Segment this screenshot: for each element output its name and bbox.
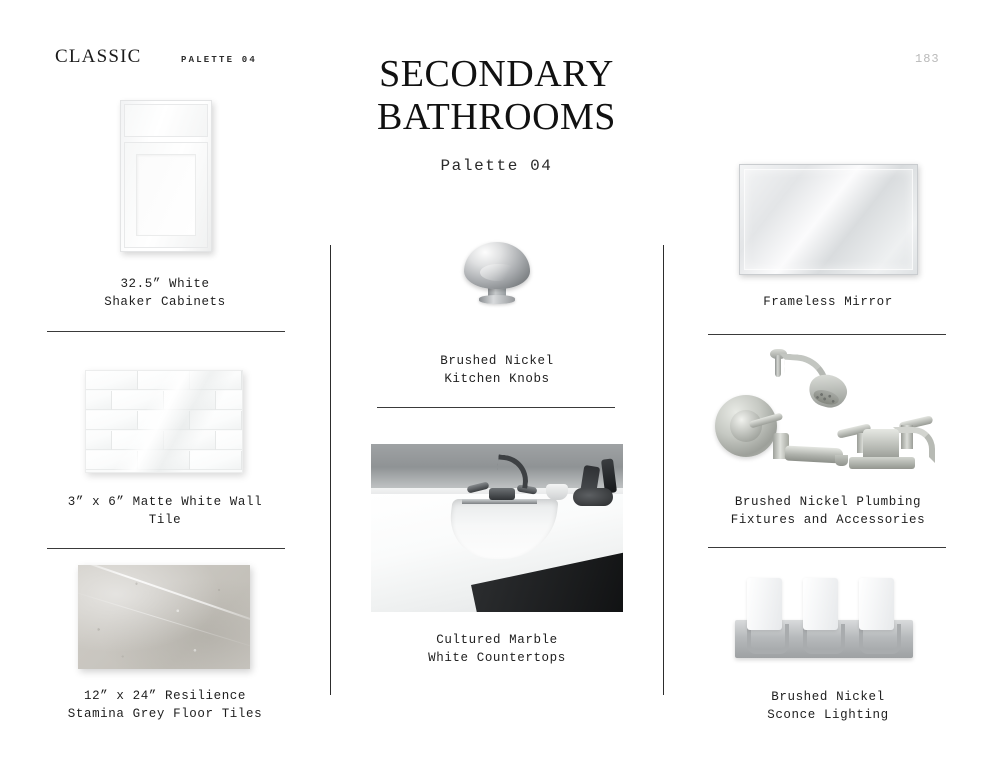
tile-row <box>85 451 243 471</box>
caption-sconce-lighting: Brushed Nickel Sconce Lighting <box>708 688 948 724</box>
caption-shaker-cabinets: 32.5” White Shaker Cabinets <box>45 275 285 311</box>
sconce-glass-shade <box>747 578 782 630</box>
sconce-glass-shade <box>859 578 894 630</box>
page-number: 183 <box>915 52 940 66</box>
tile-row <box>85 411 243 431</box>
grey-stone-floor-tile-image <box>78 565 250 669</box>
left-divider-2 <box>47 548 285 549</box>
sconce-glass-shade <box>803 578 838 630</box>
caption-plumbing-fixtures: Brushed Nickel Plumbing Fixtures and Acc… <box>708 493 948 529</box>
column-divider-right <box>663 245 664 695</box>
cultured-marble-countertop-image <box>371 444 623 612</box>
brushed-nickel-cabinet-knob-image <box>464 242 530 306</box>
shower-spray-face <box>812 387 841 407</box>
matte-white-subway-wall-tile-image <box>85 370 243 473</box>
photo-cup <box>546 484 568 500</box>
brand-label: CLASSIC <box>55 46 142 68</box>
caption-frameless-mirror: Frameless Mirror <box>708 293 948 311</box>
faucet-baseplate <box>849 457 915 469</box>
palette-page: CLASSIC PALETTE 04 183 SECONDARY BATHROO… <box>0 0 993 768</box>
brushed-nickel-sconce-light-image <box>735 578 917 670</box>
brushed-nickel-plumbing-fixtures-image <box>715 345 945 475</box>
cabinet-drawer-panel <box>124 104 208 137</box>
left-divider-1 <box>47 331 285 332</box>
column-divider-left <box>330 245 331 695</box>
header-palette-label: PALETTE 04 <box>181 55 257 65</box>
page-subtitle: Palette 04 <box>330 157 663 175</box>
caption-wall-tile: 3” x 6” Matte White Wall Tile <box>45 493 285 529</box>
right-divider-2 <box>708 547 946 548</box>
cabinet-recessed-panel <box>136 154 196 236</box>
photo-towel <box>573 488 613 506</box>
photo-faucet-body <box>489 488 515 500</box>
knob-cap <box>464 242 530 289</box>
frameless-mirror-image <box>739 164 918 275</box>
center-divider-1 <box>377 407 615 408</box>
tile-row <box>85 391 243 411</box>
page-title: SECONDARY BATHROOMS <box>330 53 663 138</box>
caption-floor-tiles: 12” x 24” Resilience Stamina Grey Floor … <box>45 687 285 723</box>
knob-base <box>479 295 515 304</box>
tile-speckle-texture <box>78 565 250 669</box>
tub-spout-tip <box>835 455 848 466</box>
white-shaker-cabinet-door-image <box>120 100 212 252</box>
tile-row <box>85 371 243 391</box>
caption-cabinet-knobs: Brushed Nickel Kitchen Knobs <box>377 352 617 388</box>
tile-row <box>85 431 243 451</box>
photo-faucet-baseplate <box>462 499 538 504</box>
cabinet-door-panel <box>124 142 208 248</box>
caption-countertops: Cultured Marble White Countertops <box>377 631 617 667</box>
right-divider-1 <box>708 334 946 335</box>
